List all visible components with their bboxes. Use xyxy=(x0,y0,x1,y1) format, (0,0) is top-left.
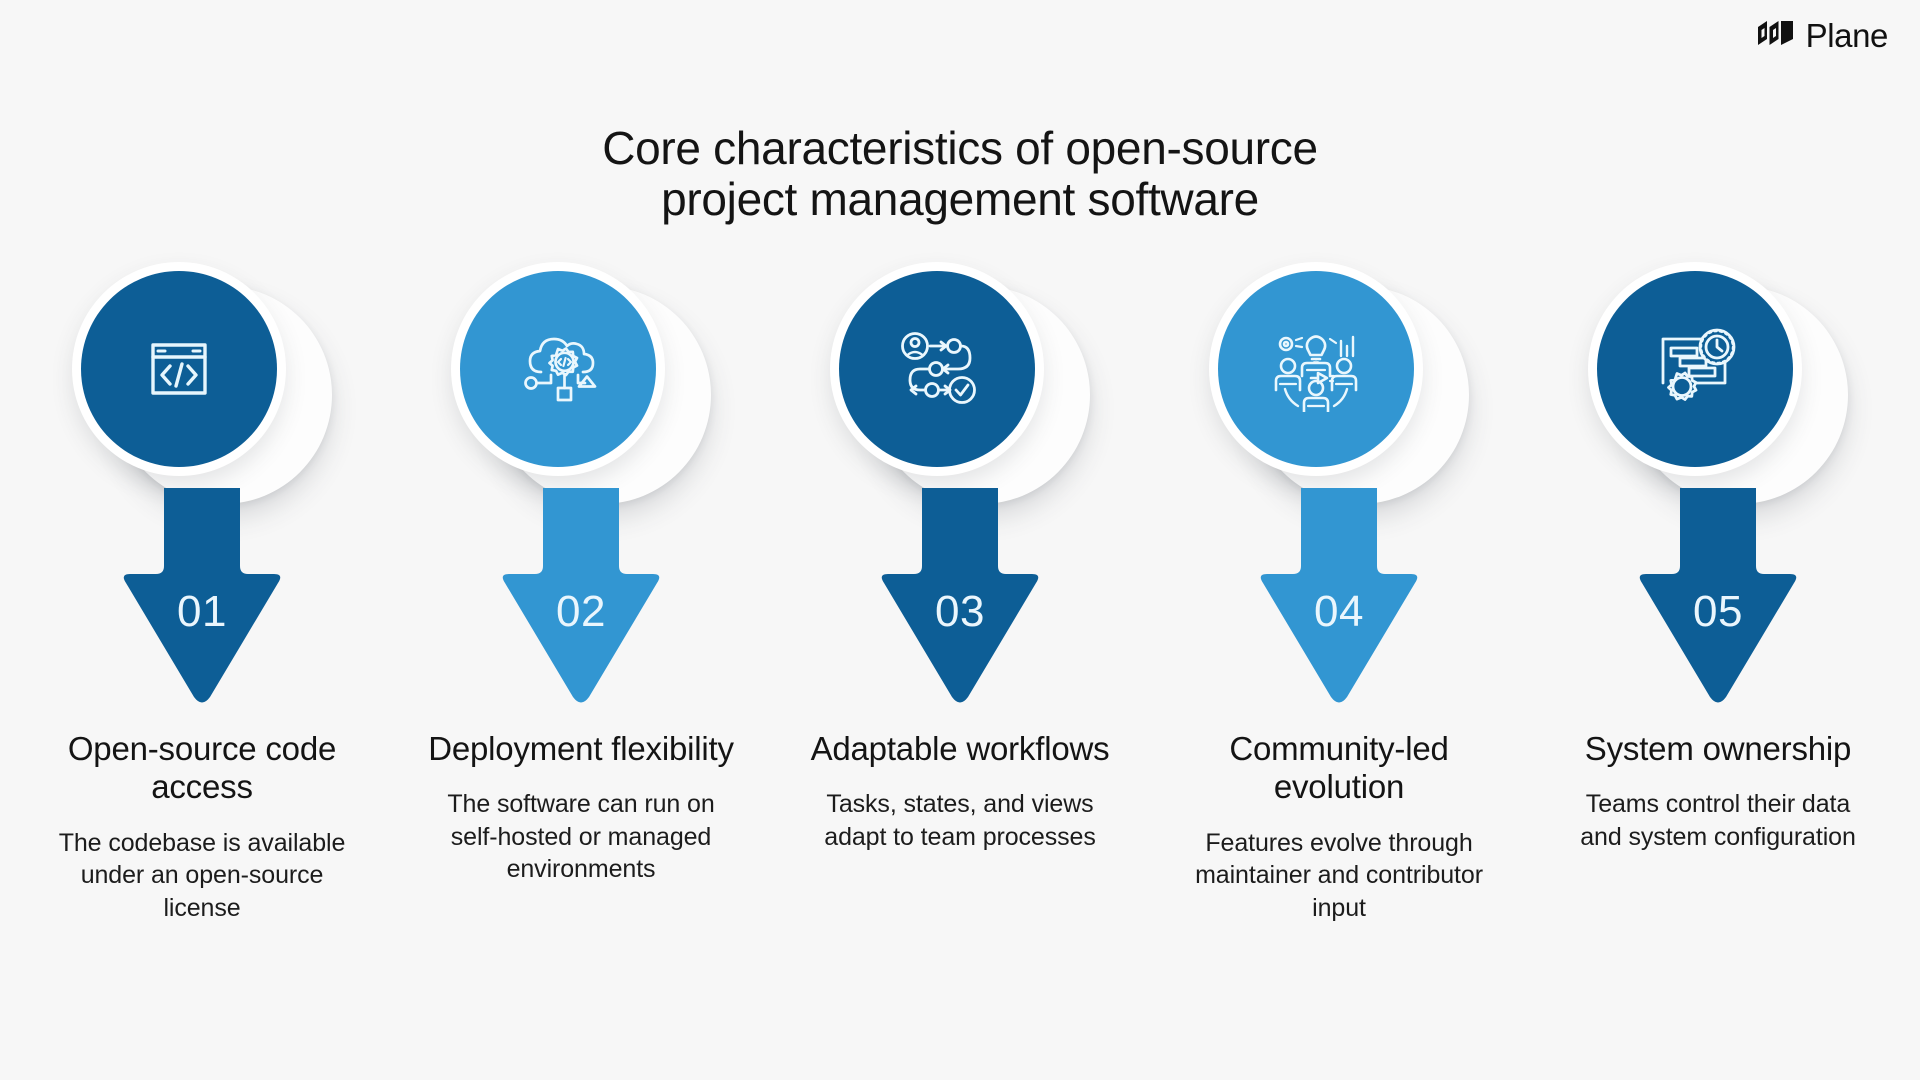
badge-color-face xyxy=(460,271,656,467)
step-column-02: 02 Deployment flexibility The software c… xyxy=(397,262,765,924)
icon-badge-01 xyxy=(72,262,332,494)
step-body-02: The software can run on self-hosted or m… xyxy=(426,788,736,886)
step-number-01: 01 xyxy=(177,590,227,634)
code-window-icon xyxy=(140,330,218,408)
plane-logo-icon xyxy=(1756,18,1796,53)
step-heading-04: Community-led evolution xyxy=(1174,730,1504,807)
step-body-04: Features evolve through maintainer and c… xyxy=(1184,827,1494,925)
step-heading-03: Adaptable workflows xyxy=(811,730,1110,768)
step-heading-01: Open-source code access xyxy=(37,730,367,807)
step-number-05: 05 xyxy=(1693,590,1743,634)
step-arrow-01: 01 xyxy=(102,488,302,708)
workflow-process-icon xyxy=(894,328,980,410)
page-title: Core characteristics of open-source proj… xyxy=(0,123,1920,226)
step-body-01: The codebase is available under an open-… xyxy=(47,827,357,925)
step-number-03: 03 xyxy=(935,590,985,634)
step-body-03: Tasks, states, and views adapt to team p… xyxy=(805,788,1115,853)
brand-name: Plane xyxy=(1806,19,1888,52)
brand-logo: Plane xyxy=(1756,18,1888,53)
step-heading-02: Deployment flexibility xyxy=(428,730,734,768)
step-column-03: 03 Adaptable workflows Tasks, states, an… xyxy=(776,262,1144,924)
badge-color-face xyxy=(839,271,1035,467)
step-number-02: 02 xyxy=(556,590,606,634)
icon-badge-05 xyxy=(1588,262,1848,494)
badge-color-face xyxy=(1597,271,1793,467)
step-heading-05: System ownership xyxy=(1585,730,1851,768)
step-arrow-02: 02 xyxy=(481,488,681,708)
community-collaboration-icon xyxy=(1271,326,1361,412)
page-title-line-1: Core characteristics of open-source xyxy=(0,123,1920,175)
page-title-line-2: project management software xyxy=(0,174,1920,226)
step-arrow-03: 03 xyxy=(860,488,1060,708)
gantt-chart-settings-icon xyxy=(1651,327,1739,411)
step-arrow-05: 05 xyxy=(1618,488,1818,708)
icon-badge-04 xyxy=(1209,262,1469,494)
step-column-01: 01 Open-source code access The codebase … xyxy=(18,262,386,924)
step-column-05: 05 System ownership Teams control their … xyxy=(1534,262,1902,924)
icon-badge-03 xyxy=(830,262,1090,494)
badge-color-face xyxy=(81,271,277,467)
icon-badge-02 xyxy=(451,262,711,494)
badge-color-face xyxy=(1218,271,1414,467)
step-arrow-04: 04 xyxy=(1239,488,1439,708)
steps-container: 01 Open-source code access The codebase … xyxy=(0,262,1920,924)
step-number-04: 04 xyxy=(1314,590,1364,634)
step-body-05: Teams control their data and system conf… xyxy=(1563,788,1873,853)
step-column-04: 04 Community-led evolution Features evol… xyxy=(1155,262,1523,924)
cloud-deployment-gear-icon xyxy=(515,328,601,410)
